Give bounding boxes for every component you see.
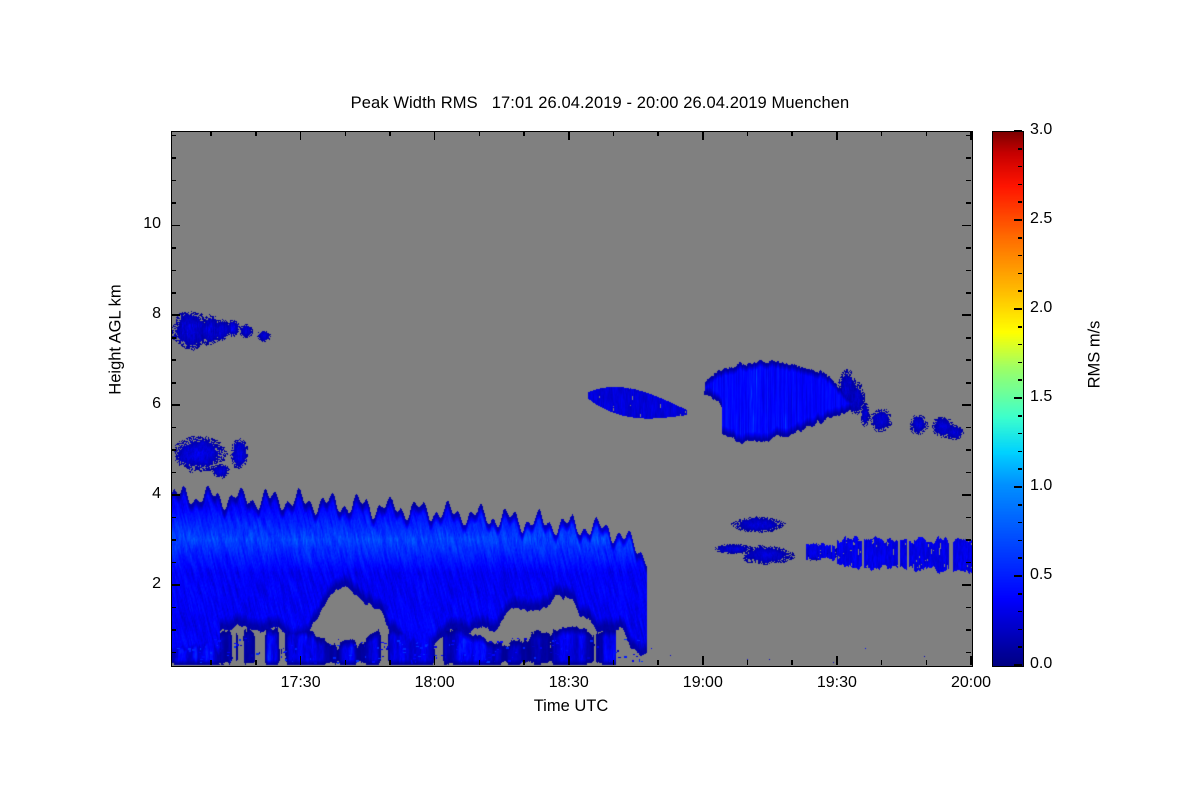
x-tick-major-top: [300, 131, 302, 140]
colorbar-tick-label: 0.0: [1030, 655, 1052, 673]
x-tick-major-top: [702, 131, 704, 140]
colorbar-tick-minor: [1018, 290, 1022, 292]
colorbar-tick-label: 1.0: [1030, 477, 1052, 495]
y-tick-major-right: [962, 494, 971, 496]
x-tick-minor-top: [345, 131, 347, 136]
x-tick-minor-top: [791, 131, 793, 136]
colorbar-tick-minor: [1018, 326, 1022, 328]
colorbar-tick-minor: [1018, 362, 1022, 364]
y-tick-label: 2: [109, 575, 161, 593]
y-tick-minor: [171, 270, 176, 272]
y-tick-minor-right: [966, 157, 971, 159]
x-tick-minor: [881, 660, 883, 665]
colorbar-tick-minor: [1018, 344, 1022, 346]
y-tick-major-right: [962, 225, 971, 227]
y-tick-minor: [171, 202, 176, 204]
colorbar-tick-label: 3.0: [1030, 121, 1052, 139]
x-tick-major-top: [568, 131, 570, 140]
x-tick-minor: [523, 660, 525, 665]
y-tick-minor-right: [966, 472, 971, 474]
y-tick-minor-right: [966, 449, 971, 451]
colorbar-tick-label: 2.5: [1030, 210, 1052, 228]
y-tick-minor: [171, 292, 176, 294]
y-tick-minor-right: [966, 292, 971, 294]
y-tick-minor-right: [966, 517, 971, 519]
colorbar-tick-minor: [1018, 201, 1022, 203]
colorbar-tick-minor: [1018, 611, 1022, 613]
x-tick-label: 18:00: [385, 674, 485, 692]
colorbar-tick-minor: [1018, 379, 1022, 381]
y-tick-minor-right: [966, 652, 971, 654]
y-tick-minor: [171, 427, 176, 429]
x-tick-minor-top: [389, 131, 391, 136]
colorbar-tick-minor: [1018, 557, 1022, 559]
x-tick-minor: [657, 660, 659, 665]
plot-area: [171, 131, 973, 667]
y-tick-minor-right: [966, 359, 971, 361]
y-tick-minor-right: [966, 180, 971, 182]
colorbar-tick-minor: [1018, 166, 1022, 168]
x-tick-label: 18:30: [519, 674, 619, 692]
y-tick-minor: [171, 517, 176, 519]
plot-title: Peak Width RMS 17:01 26.04.2019 - 20:00 …: [0, 94, 1200, 113]
figure-canvas: Peak Width RMS 17:01 26.04.2019 - 20:00 …: [0, 0, 1200, 800]
x-tick-major: [568, 656, 570, 665]
y-tick-minor-right: [966, 337, 971, 339]
x-tick-major-top: [836, 131, 838, 140]
y-tick-minor: [171, 472, 176, 474]
x-tick-minor: [255, 660, 257, 665]
colorbar-tick-minor: [1018, 522, 1022, 524]
colorbar-tick-minor: [1018, 540, 1022, 542]
colorbar-tick-minor: [1018, 255, 1022, 257]
x-tick-minor-top: [523, 131, 525, 136]
y-tick-major: [171, 404, 180, 406]
x-tick-major-top: [434, 131, 436, 140]
y-tick-minor: [171, 382, 176, 384]
y-tick-major-right: [962, 584, 971, 586]
x-tick-minor-top: [747, 131, 749, 136]
colorbar-tick-minor: [1018, 273, 1022, 275]
x-tick-major: [970, 656, 972, 665]
x-tick-minor-top: [479, 131, 481, 136]
x-tick-label: 20:00: [921, 674, 1021, 692]
colorbar-tick-minor: [1018, 629, 1022, 631]
x-tick-minor: [345, 660, 347, 665]
x-tick-minor: [479, 660, 481, 665]
y-tick-major-right: [962, 314, 971, 316]
y-tick-minor-right: [966, 247, 971, 249]
x-tick-major: [434, 656, 436, 665]
x-tick-minor-top: [881, 131, 883, 136]
y-tick-minor: [171, 449, 176, 451]
y-tick-minor-right: [966, 427, 971, 429]
colorbar-tick-minor: [1018, 593, 1022, 595]
x-tick-minor: [210, 660, 212, 665]
colorbar-tick-minor: [1018, 451, 1022, 453]
y-tick-minor: [171, 359, 176, 361]
y-tick-minor: [171, 652, 176, 654]
colorbar-tick-minor: [1018, 237, 1022, 239]
colorbar-tick-minor: [1018, 646, 1022, 648]
colorbar-gradient: [993, 132, 1023, 666]
colorbar-tick-major: [1014, 219, 1022, 221]
y-tick-major: [171, 225, 180, 227]
colorbar-tick-minor: [1018, 184, 1022, 186]
y-tick-minor-right: [966, 629, 971, 631]
y-axis-title: Height AGL km: [107, 210, 126, 470]
x-tick-label: 17:30: [251, 674, 351, 692]
x-tick-minor-top: [657, 131, 659, 136]
x-tick-label: 19:00: [653, 674, 753, 692]
x-tick-major: [836, 656, 838, 665]
y-tick-minor: [171, 629, 176, 631]
y-tick-minor: [171, 539, 176, 541]
x-tick-minor-top: [926, 131, 928, 136]
y-tick-minor-right: [966, 562, 971, 564]
y-tick-minor-right: [966, 382, 971, 384]
y-tick-major: [171, 314, 180, 316]
x-tick-major: [300, 656, 302, 665]
x-tick-minor: [389, 660, 391, 665]
colorbar-tick-minor: [1018, 504, 1022, 506]
y-tick-minor: [171, 247, 176, 249]
colorbar-tick-major: [1014, 575, 1022, 577]
y-tick-minor: [171, 337, 176, 339]
colorbar-tick-label: 0.5: [1030, 566, 1052, 584]
y-tick-minor-right: [966, 202, 971, 204]
y-tick-minor: [171, 135, 176, 137]
colorbar-tick-minor: [1018, 148, 1022, 150]
colorbar-tick-label: 2.0: [1030, 299, 1052, 317]
y-tick-label: 4: [109, 485, 161, 503]
x-tick-minor: [747, 660, 749, 665]
x-tick-major-top: [970, 131, 972, 140]
colorbar-tick-minor: [1018, 415, 1022, 417]
colorbar-tick-minor: [1018, 433, 1022, 435]
y-tick-minor-right: [966, 539, 971, 541]
y-tick-minor: [171, 562, 176, 564]
x-axis-title: Time UTC: [171, 697, 971, 716]
y-tick-minor-right: [966, 607, 971, 609]
x-tick-minor-top: [210, 131, 212, 136]
colorbar-tick-major: [1014, 664, 1022, 666]
y-tick-minor: [171, 180, 176, 182]
colorbar-tick-major: [1014, 308, 1022, 310]
colorbar-tick-major: [1014, 397, 1022, 399]
x-tick-minor: [926, 660, 928, 665]
x-tick-minor: [791, 660, 793, 665]
y-tick-major: [171, 494, 180, 496]
colorbar-tick-major: [1014, 486, 1022, 488]
x-tick-minor-top: [255, 131, 257, 136]
y-tick-minor: [171, 607, 176, 609]
y-tick-minor: [171, 157, 176, 159]
y-tick-minor-right: [966, 270, 971, 272]
colorbar-tick-minor: [1018, 468, 1022, 470]
x-tick-major: [702, 656, 704, 665]
colorbar: [992, 131, 1024, 667]
x-tick-minor-top: [613, 131, 615, 136]
colorbar-tick-label: 1.5: [1030, 388, 1052, 406]
heatmap-canvas: [172, 132, 972, 666]
x-tick-minor: [613, 660, 615, 665]
colorbar-title: RMS m/s: [1086, 245, 1105, 465]
colorbar-tick-major: [1014, 130, 1022, 132]
y-tick-major: [171, 584, 180, 586]
y-tick-major-right: [962, 404, 971, 406]
x-tick-label: 19:30: [787, 674, 887, 692]
